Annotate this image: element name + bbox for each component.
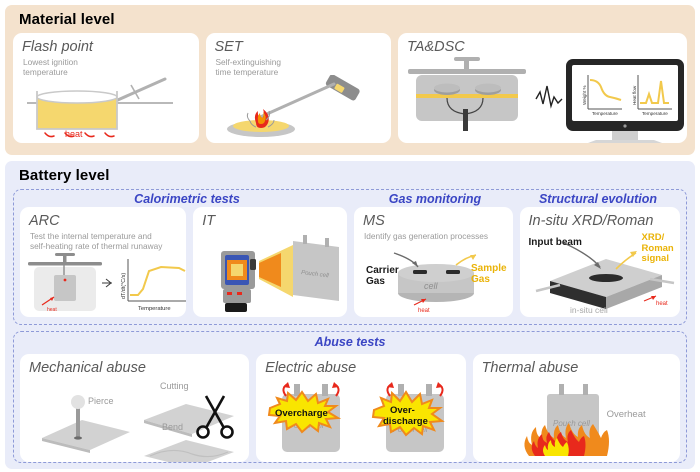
lighter-icon (258, 75, 361, 118)
svg-text:heat: heat (47, 307, 57, 313)
card-title-in-situ-xrd: In-situ XRD/Roman (529, 213, 680, 229)
section-title-material-level: Material level (19, 11, 687, 29)
svg-text:Heat flow: Heat flow (632, 85, 637, 105)
label-overheat: Overheat (607, 409, 646, 420)
mechanical-abuse-illustration (20, 376, 249, 462)
svg-text:heat: heat (418, 308, 430, 314)
svg-text:Temperature: Temperature (592, 111, 618, 116)
group-analysis-tests: Calorimetric tests Gas monitoring Struct… (13, 189, 687, 325)
card-in-situ-xrd[interactable]: In-situ XRD/Roman hea (520, 207, 680, 317)
svg-text:Temperature: Temperature (138, 306, 171, 312)
diagram-root: Material level Flash point Lowest igniti… (0, 0, 700, 472)
svg-text:cell: cell (424, 281, 439, 291)
group-title-calorimetric-tests: Calorimetric tests (20, 192, 354, 207)
section-battery-level: Battery level Calorimetric tests Gas mon… (5, 161, 695, 469)
card-title-it: IT (202, 213, 347, 229)
group-titles-row: Calorimetric tests Gas monitoring Struct… (20, 192, 680, 207)
card-title-mechanical-abuse: Mechanical abuse (29, 360, 249, 376)
svg-text:in-situ cell: in-situ cell (570, 305, 608, 315)
group-title-abuse-tests: Abuse tests (20, 335, 680, 350)
pouch-cell-overdischarge: Pouch cell Over- discharge (373, 382, 444, 452)
card-subtitle-flash-point: Lowest ignition temperature (23, 57, 199, 77)
group-title-gas-monitoring: Gas monitoring (354, 192, 516, 207)
card-title-ms: MS (363, 213, 513, 229)
label-input-beam: Input beam (529, 237, 582, 248)
card-mechanical-abuse[interactable]: Mechanical abuse (20, 354, 249, 462)
section-material-level: Material level Flash point Lowest igniti… (5, 5, 695, 155)
card-title-ta-dsc: TA&DSC (407, 39, 687, 55)
card-title-electric-abuse: Electric abuse (265, 360, 465, 376)
flame-icon (254, 109, 268, 128)
card-it[interactable]: IT Pouch cell (193, 207, 347, 317)
card-title-thermal-abuse: Thermal abuse (482, 360, 680, 376)
section-title-battery-level: Battery level (19, 167, 687, 185)
pouch-cell-overcharge: Pouch cell Overcharge (269, 382, 340, 452)
arc-illustration: heat dT/dt(°C/s) Temperature (20, 253, 186, 317)
set-illustration (206, 75, 392, 141)
card-set[interactable]: SET Self-extinguishing time temperature (206, 33, 392, 143)
card-electric-abuse[interactable]: Electric abuse Pouch cell (256, 354, 465, 462)
group-title-structural-evolution: Structural evolution (516, 192, 680, 207)
svg-text:discharge: discharge (383, 416, 428, 427)
group-abuse-tests: Abuse tests Mechanical abuse (13, 331, 687, 463)
card-arc[interactable]: ARC Test the internal temperature and se… (20, 207, 186, 317)
label-heat-flash-point: heat (65, 129, 83, 139)
card-title-arc: ARC (29, 213, 186, 229)
flash-point-illustration (13, 77, 199, 141)
svg-text:heat: heat (656, 301, 668, 307)
svg-text:dT/dt(°C/s): dT/dt(°C/s) (121, 273, 127, 299)
svg-text:Overcharge: Overcharge (275, 408, 328, 419)
card-ta-dsc[interactable]: TA&DSC (398, 33, 687, 143)
card-flash-point[interactable]: Flash point Lowest ignition temperature … (13, 33, 199, 143)
card-title-set: SET (215, 39, 392, 55)
card-ms[interactable]: MS Identify gas generation processes cel… (354, 207, 513, 317)
svg-text:Over-: Over- (390, 405, 415, 416)
electric-abuse-illustration: Pouch cell Overcharge (256, 380, 465, 460)
card-subtitle-arc: Test the internal temperature and self-h… (30, 231, 186, 251)
label-xrd-signal: XRD/ Roman signal (642, 233, 674, 265)
label-pierce: Pierce (88, 396, 114, 406)
card-thermal-abuse[interactable]: Thermal abuse Pouch cell Overheat (473, 354, 680, 462)
label-cutting: Cutting (160, 381, 189, 391)
label-bend: Bend (162, 422, 183, 432)
signal-waveform-icon (536, 86, 562, 106)
card-title-flash-point: Flash point (22, 39, 199, 55)
card-subtitle-ms: Identify gas generation processes (364, 231, 513, 241)
svg-text:Pouch cell: Pouch cell (553, 419, 590, 428)
it-illustration: Pouch cell (193, 229, 347, 315)
svg-text:Temperature: Temperature (642, 111, 668, 116)
thermal-abuse-illustration: Pouch cell (473, 380, 680, 462)
svg-text:Weight %: Weight % (582, 85, 587, 105)
ta-dsc-illustration: Weight % Temperature Heat flow Temperatu… (398, 57, 687, 143)
label-carrier-gas: Carrier Gas (366, 265, 399, 287)
card-subtitle-set: Self-extinguishing time temperature (216, 57, 392, 77)
chart-dtdt: dT/dt(°C/s) Temperature (121, 259, 186, 312)
label-sample-gas: Sample Gas (471, 263, 507, 285)
